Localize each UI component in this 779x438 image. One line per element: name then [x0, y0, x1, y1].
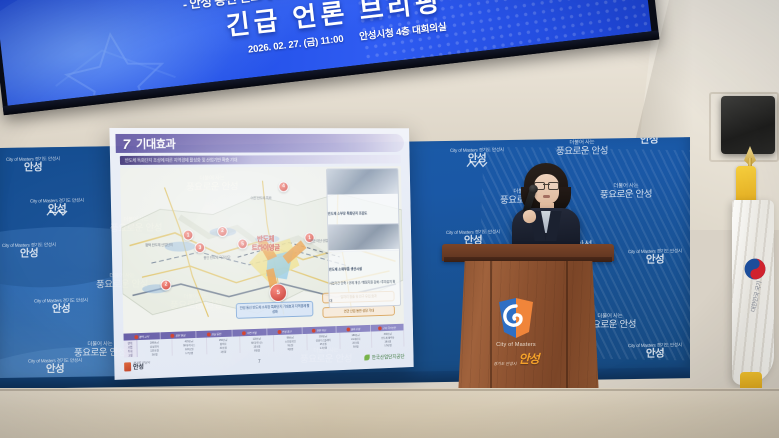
map-note: 용인 반도체 국가산단	[203, 255, 230, 260]
table-row-labels: 면적 기업 투자 고용	[124, 340, 138, 357]
slide-partner-org: 한국산업단지공단	[364, 353, 404, 361]
map-pin[interactable]: 4	[278, 181, 288, 192]
floor-reflection	[0, 388, 779, 438]
table-marker-icon	[346, 327, 350, 331]
slide-header: 7 기대효과	[115, 134, 404, 153]
table-column: 330만㎡ 반도체 협력사 18조원 1.5만명	[372, 330, 404, 347]
table-column: 289만㎡ 삼성전자 120조원 3만명	[137, 339, 172, 357]
table-column: 415만㎡ SK하이닉스 122조원 1.7만명	[172, 338, 207, 356]
table-header-label: 천안 아산	[316, 328, 326, 332]
table-marker-icon	[378, 326, 382, 330]
flag-embroidery-text: 대한민국 국기	[748, 280, 763, 312]
map-side-card: 반도체 소재부품 생산시설 사업기간 단축 / 규제 개선 / 행정지원 강화 …	[327, 223, 401, 307]
table-header-label: 청주 오창	[351, 327, 360, 331]
glasses-lens-right	[548, 182, 559, 190]
table-cell: 9천명	[353, 344, 359, 348]
side-card-title: 반도체 소재부품 생산시설	[329, 266, 399, 272]
emblem-korean-lockup: 경기도 안성시 안성	[493, 350, 538, 367]
projection-screen: 7 기대효과 반도체 특화단지 조성에 따른 지역경제 활성화 및 산업기반 확…	[109, 128, 413, 380]
emblem-english-text: City of Masters	[496, 342, 536, 348]
table-cell: 1.2만명	[320, 345, 327, 349]
table-cell: 6천명	[288, 347, 294, 351]
korean-national-flag: 대한민국 국기	[722, 158, 779, 418]
table-marker-icon	[134, 335, 138, 339]
table-column: 180만㎡ LG에너지 20조원 9천명	[340, 332, 373, 349]
table-header-label: 평택 고덕	[139, 334, 149, 338]
map-note: 평택 반도체 산업단지	[145, 243, 173, 248]
table-column: 96만㎡ 소부장기업 9조원 6천명	[274, 334, 307, 352]
taegeuk-icon	[741, 255, 770, 284]
map-pin[interactable]: 2	[217, 226, 228, 237]
slide-map: 반도체 트라이앵글 1 2 3 4 5 1 2 5 평택 반도체 산업단지 용인…	[120, 166, 404, 333]
table-marker-icon	[277, 330, 281, 334]
footer-org-name: 안성	[133, 365, 150, 372]
table-column: 120만㎡ SK하이닉스 15조원 8천명	[240, 335, 274, 353]
press-briefing-scene: - 안성 동신 반도체 소부장 특화단지 농업진흥구역 해제 관련 - 긴급 언…	[0, 0, 779, 438]
table-cell: 1.5만명	[384, 343, 391, 347]
map-pin[interactable]: 2	[161, 279, 172, 290]
table-header-label: 용인 원삼	[175, 333, 185, 337]
floor-wall-joint	[0, 389, 779, 391]
slide-footer-logo: 경기도 안성시 안성	[124, 362, 150, 373]
table-cell: 1.7만명	[185, 350, 193, 354]
side-card-lines: 사업기간 단축 / 규제 개선 / 행정지원 강화 / 투자유치 확대	[329, 280, 395, 303]
side-card-caption: 반도체 소재부품 생산시설 사업기간 단축 / 규제 개선 / 행정지원 강화 …	[329, 259, 400, 305]
table-header-label: 안성 동신	[282, 329, 292, 333]
leaf-icon	[364, 355, 370, 361]
table-header-label: 이천 부발	[247, 330, 257, 334]
table-column: 210만㎡ 삼성디스플레이 25조원 1.2만명	[307, 333, 340, 351]
slide-page-number: 7	[258, 359, 261, 365]
projected-slide: 7 기대효과 반도체 특화단지 조성에 따른 지역경제 활성화 및 산업기반 확…	[109, 128, 413, 380]
table-row-label: 고용	[128, 353, 133, 357]
map-note: 이천 반도체 특화	[251, 196, 272, 200]
side-card-image	[327, 169, 398, 194]
map-center-label: 반도체 트라이앵글	[251, 236, 280, 254]
partner-org-name: 한국산업단지공단	[372, 353, 405, 361]
table-marker-icon	[242, 331, 246, 335]
slide-band-text: 반도체 특화단지 조성에 따른 지역경제 활성화 및 산업기반 확충 기대	[125, 157, 238, 163]
brand-wave-icon	[466, 160, 488, 168]
emblem-city-name: 안성	[519, 350, 539, 367]
slide-summary-band: 반도체 특화단지 조성에 따른 지역경제 활성화 및 산업기반 확충 기대	[120, 155, 401, 165]
table-cell: 1만명	[220, 349, 226, 353]
ceiling-speaker-unit	[721, 96, 775, 154]
slide-section-number: 7	[122, 135, 130, 151]
table-marker-icon	[206, 332, 210, 336]
table-header-label: 구미 국가산단	[382, 325, 396, 329]
speaker-mouth	[543, 195, 550, 198]
table-marker-icon	[312, 328, 316, 332]
footer-org: 경기도 안성시 안성	[133, 362, 150, 373]
backdrop-brand-mark: City of Masters 경기도 안성시 안성	[622, 137, 676, 146]
table-cell: 3만명	[152, 352, 158, 356]
side-card-image	[328, 224, 399, 250]
table-header-label: 화성 동탄	[211, 332, 221, 336]
table-cell: 8천명	[254, 348, 260, 352]
slide-section-title: 기대효과	[136, 135, 176, 151]
brand-wave-icon	[46, 209, 68, 217]
side-card-title: 반도체 소부장 특화단지 조감도	[328, 211, 398, 216]
anseong-logo-icon	[124, 363, 131, 372]
map-center-line2: 트라이앵글	[252, 245, 280, 252]
map-center-line1: 반도체	[257, 236, 274, 243]
podium-city-emblem: City of Masters 경기도 안성시 안성	[488, 296, 544, 370]
table-column: 150만㎡ 협력사 30조원 1만명	[207, 336, 241, 354]
table-marker-icon	[170, 333, 174, 337]
map-pin-primary[interactable]: 5	[269, 283, 287, 302]
map-callout: 안성 동신 반도체 소부장 특화단지 기대효과 지역경제 활성화	[236, 301, 314, 318]
emblem-org-small: 경기도 안성시	[493, 361, 516, 367]
anseong-emblem-icon	[496, 296, 536, 340]
flag-cloth: 대한민국 국기	[732, 200, 774, 385]
